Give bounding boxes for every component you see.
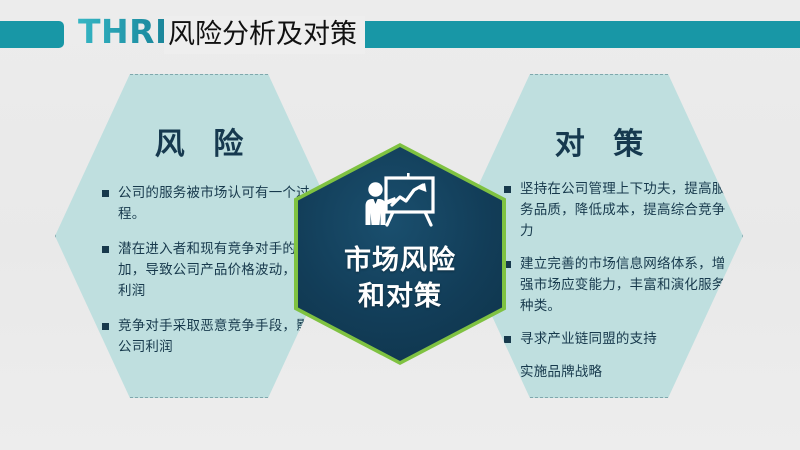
risk-bullet-list: 公司的服务被市场认可有一个过程。 潜在进入者和现有竞争对手的增加，导致公司产品价… (102, 183, 324, 372)
header-accent-bar-left (0, 21, 64, 48)
list-item: 寻求产业链同盟的支持 (504, 329, 726, 350)
presenter-chart-icon (362, 173, 438, 235)
list-item: 竞争对手采取恶意竞争手段，影响公司利润 (102, 316, 324, 358)
center-label-line-1: 市场风险 (298, 243, 502, 279)
list-item: 坚持在公司管理上下功夫，提高服务品质，降低成本，提高综合竞争力 (504, 179, 726, 242)
slide-canvas: THREE 风险分析及对策 风 险 公司的服务被市场认可有一个过程。 潜在进入者… (0, 0, 800, 450)
center-label-line-2: 和对策 (298, 279, 502, 315)
list-item: 建立完善的市场信息网络体系，增强市场应变能力，丰富和演化服务种类。 (504, 254, 726, 317)
header-accent-bar-right (356, 21, 800, 48)
center-hexagon-label: 市场风险 和对策 (298, 243, 502, 315)
countermeasure-panel-heading: 对 策 (456, 119, 742, 163)
center-hexagon: 市场风险 和对策 (294, 143, 506, 365)
page-title: 风险分析及对策 (164, 16, 365, 54)
center-hexagon-inner: 市场风险 和对策 (298, 147, 502, 361)
countermeasure-bullet-list: 坚持在公司管理上下功夫，提高服务品质，降低成本，提高综合竞争力 建立完善的市场信… (504, 179, 726, 395)
list-item: 公司的服务被市场认可有一个过程。 (102, 183, 324, 225)
list-item: 实施品牌战略 (504, 362, 726, 383)
slide-header: THREE 风险分析及对策 (0, 0, 800, 70)
list-item: 潜在进入者和现有竞争对手的增加，导致公司产品价格波动，影响利润 (102, 239, 324, 302)
risk-panel-heading: 风 险 (56, 119, 342, 163)
